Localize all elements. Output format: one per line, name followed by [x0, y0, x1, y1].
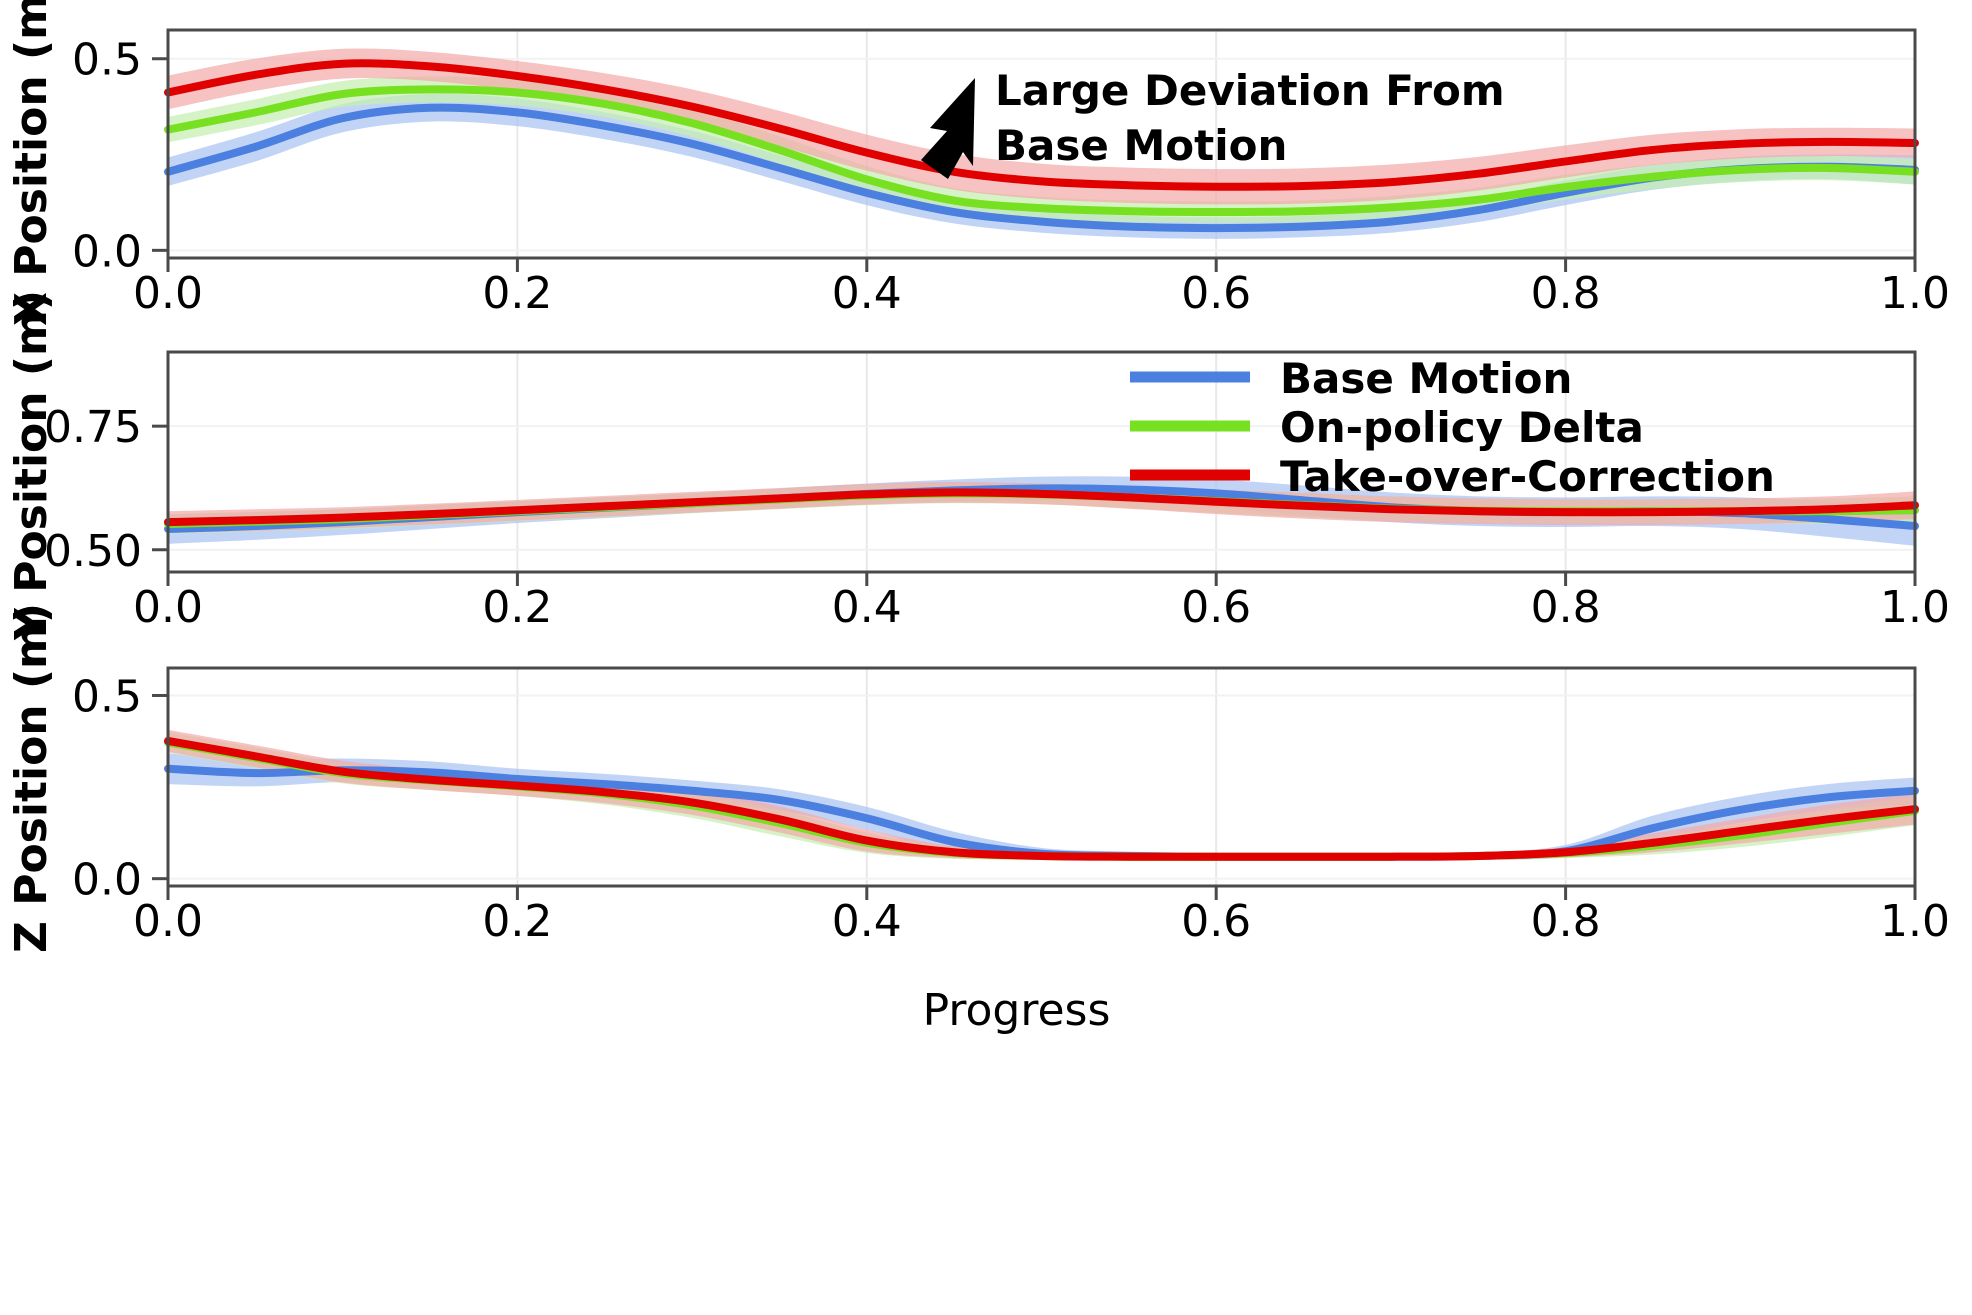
axes-frame	[168, 668, 1915, 886]
series-line-x-position-2	[168, 63, 1915, 187]
y-axis-ticks: 0.500.75	[44, 402, 168, 577]
y-axis-label-z-position: Z Position (m)	[6, 603, 57, 953]
confidence-band-x-position-0	[168, 94, 1915, 239]
svg-text:0.6: 0.6	[1181, 268, 1251, 319]
svg-text:0.5: 0.5	[72, 671, 142, 722]
gridlines	[168, 30, 1915, 258]
series-line-z-position-1	[168, 742, 1915, 856]
svg-text:0.2: 0.2	[482, 896, 552, 947]
svg-text:0.0: 0.0	[72, 226, 142, 277]
x-axis-ticks: 0.00.20.40.60.81.0	[133, 572, 1950, 633]
gridlines	[168, 352, 1915, 572]
svg-text:0.6: 0.6	[1181, 896, 1251, 947]
svg-text:0.8: 0.8	[1531, 268, 1601, 319]
svg-text:0.4: 0.4	[832, 896, 902, 947]
svg-text:0.0: 0.0	[133, 582, 203, 633]
legend-label-1: On-policy Delta	[1280, 403, 1644, 452]
svg-text:0.2: 0.2	[482, 268, 552, 319]
svg-text:0.6: 0.6	[1181, 582, 1251, 633]
svg-text:0.4: 0.4	[832, 582, 902, 633]
confidence-band-y-position-0	[168, 476, 1915, 546]
down-left-arrow-icon	[921, 78, 975, 179]
svg-text:0.50: 0.50	[44, 526, 142, 577]
confidence-band-z-position-2	[168, 730, 1915, 860]
x-axis-ticks: 0.00.20.40.60.81.0	[133, 258, 1950, 319]
figure-root: 0.00.20.40.60.81.00.00.5X Position (m)La…	[0, 0, 1972, 1315]
svg-text:0.8: 0.8	[1531, 896, 1601, 947]
svg-text:0.2: 0.2	[482, 582, 552, 633]
svg-text:0.4: 0.4	[832, 268, 902, 319]
y-axis-ticks: 0.00.5	[72, 671, 168, 905]
series-line-y-position-2	[168, 492, 1915, 522]
plot-background	[168, 30, 1915, 258]
axes-frame	[168, 30, 1915, 258]
gridlines	[168, 668, 1915, 886]
svg-text:0.0: 0.0	[72, 855, 142, 906]
legend: Base MotionOn-policy DeltaTake-over-Corr…	[1110, 339, 1870, 501]
legend-label-2: Take-over-Correction	[1280, 452, 1775, 501]
svg-text:0.5: 0.5	[72, 35, 142, 86]
svg-text:1.0: 1.0	[1880, 582, 1950, 633]
y-axis-ticks: 0.00.5	[72, 35, 168, 278]
x-axis-label: Progress	[923, 985, 1111, 1036]
confidence-band-y-position-2	[168, 482, 1915, 533]
svg-text:1.0: 1.0	[1880, 268, 1950, 319]
series-line-x-position-1	[168, 89, 1915, 212]
svg-text:0.0: 0.0	[133, 268, 203, 319]
series-line-y-position-1	[168, 493, 1915, 524]
axes-frame	[168, 352, 1915, 572]
confidence-band-x-position-1	[168, 76, 1915, 222]
plot-background	[168, 352, 1915, 572]
confidence-band-z-position-1	[168, 732, 1915, 860]
series-line-x-position-0	[168, 108, 1915, 229]
series-line-z-position-0	[168, 769, 1915, 857]
plot-background	[168, 668, 1915, 886]
series-line-y-position-0	[168, 488, 1915, 529]
svg-text:1.0: 1.0	[1880, 896, 1950, 947]
y-axis-label-y-position: Y Position (m)	[6, 290, 57, 641]
series-line-z-position-2	[168, 741, 1915, 857]
confidence-band-y-position-1	[168, 483, 1915, 533]
y-axis-label-x-position: X Position (m)	[6, 0, 57, 326]
svg-text:0.0: 0.0	[133, 896, 203, 947]
svg-text:Base Motion: Base Motion	[995, 121, 1287, 170]
confidence-band-x-position-2	[168, 48, 1915, 204]
svg-text:0.8: 0.8	[1531, 582, 1601, 633]
x-axis-ticks: 0.00.20.40.60.81.0	[133, 886, 1950, 947]
legend-label-0: Base Motion	[1280, 354, 1572, 403]
annotation-large-deviation: Large Deviation FromBase Motion	[921, 66, 1505, 179]
svg-text:0.75: 0.75	[44, 402, 142, 453]
svg-text:Large Deviation From: Large Deviation From	[995, 66, 1505, 115]
confidence-band-z-position-0	[168, 753, 1915, 860]
